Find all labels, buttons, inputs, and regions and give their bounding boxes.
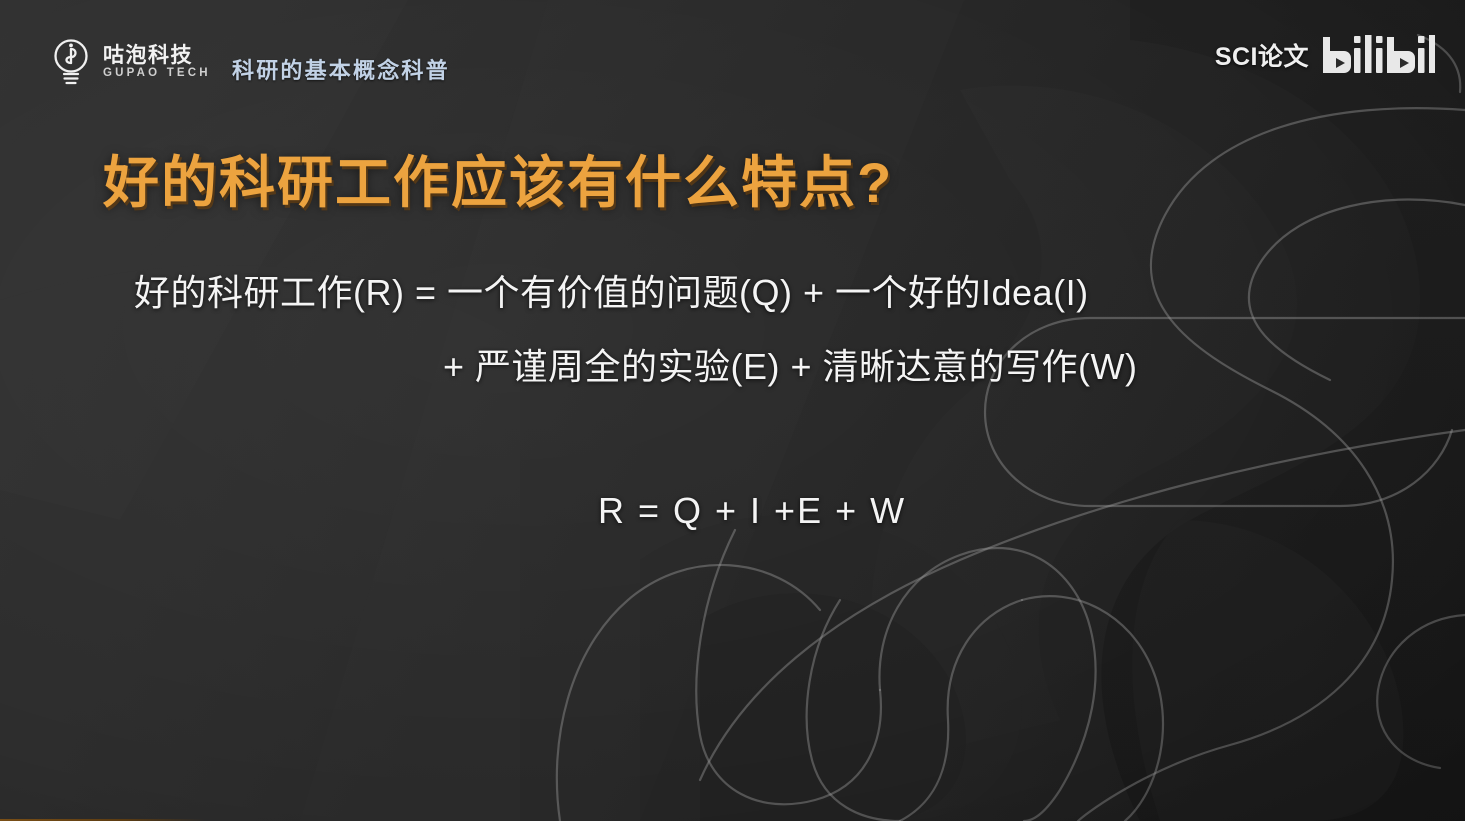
brand-name-cn: 咕泡科技 xyxy=(103,45,211,66)
equation-line-1: 好的科研工作(R) = 一个有价值的问题(Q) + 一个好的Idea(I) xyxy=(134,275,1089,311)
watermark-label: SCI论文 xyxy=(1215,37,1309,73)
watermark: SCI论文 xyxy=(1215,33,1437,77)
bilibili-logo-icon xyxy=(1321,33,1437,77)
equation-formula: R = Q + I +E + W xyxy=(598,493,906,529)
equation-line-2: + 严谨周全的实验(E) + 清晰达意的写作(W) xyxy=(443,349,1138,385)
slide-header: 咕泡科技 GUPAO TECH 科研的基本概念科普 SCI论文 xyxy=(0,0,1465,108)
presentation-slide: 咕泡科技 GUPAO TECH 科研的基本概念科普 SCI论文 xyxy=(0,0,1465,821)
brand-name-en: GUPAO TECH xyxy=(103,68,211,80)
brand-wordmark: 咕泡科技 GUPAO TECH xyxy=(103,45,211,80)
lightbulb-idea-icon xyxy=(50,37,92,87)
slide-kicker: 科研的基本概念科普 xyxy=(232,53,450,85)
slide-title: 好的科研工作应该有什么特点? xyxy=(103,150,893,216)
background-maze-line-pattern xyxy=(0,0,1465,821)
brand-logo: 咕泡科技 GUPAO TECH xyxy=(50,37,211,87)
